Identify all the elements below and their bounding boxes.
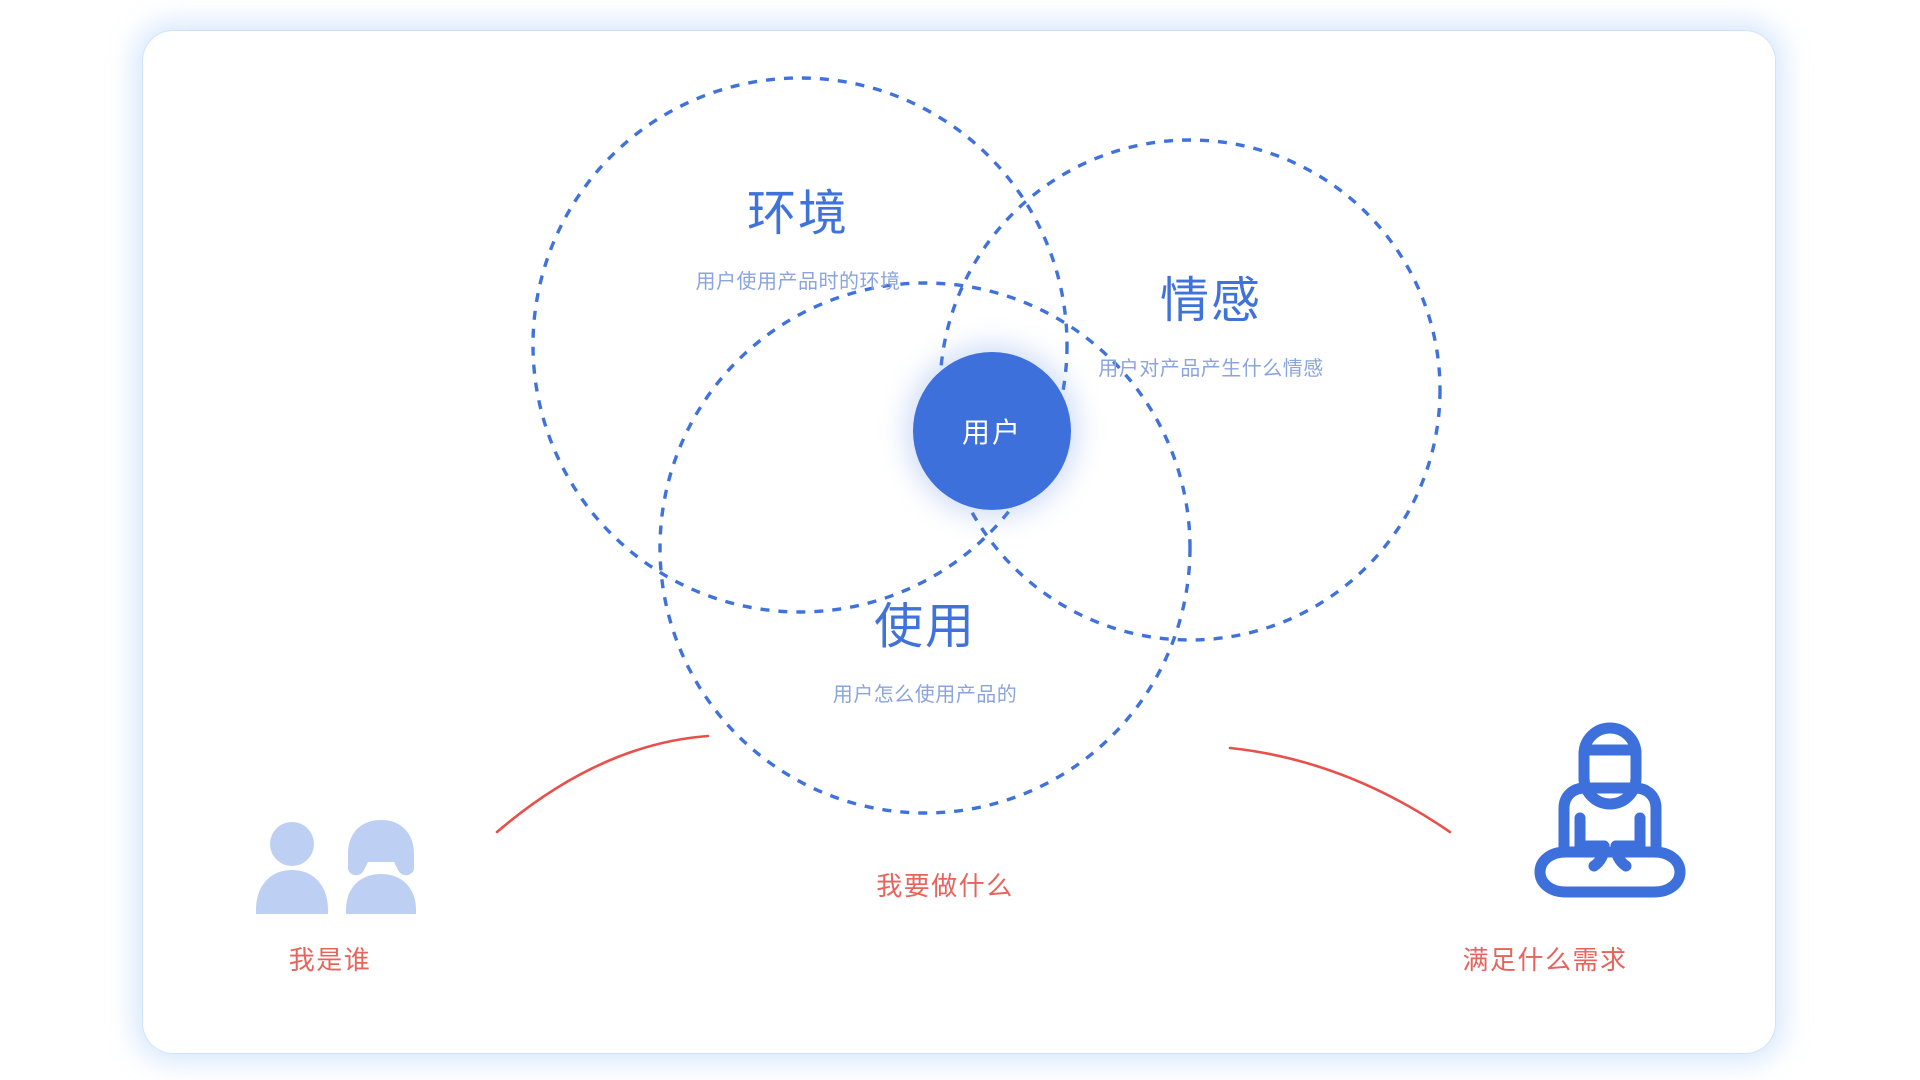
venn-label-environment: 环境 用户使用产品时的环境 [688,190,908,292]
venn-title-emotion: 情感 [1096,277,1326,326]
venn-label-emotion: 情感 用户对产品产生什么情感 [1096,277,1326,379]
annotation-what-to-do: 我要做什么 [810,866,1080,903]
annotation-who-am-i: 我是谁 [190,940,470,977]
annotation-what-to-do-label: 我要做什么 [876,871,1014,901]
venn-subtitle-emotion: 用户对产品产生什么情感 [1096,359,1326,379]
center-user-label: 用户 [962,411,1022,451]
venn-subtitle-usage: 用户怎么使用产品的 [820,685,1030,705]
venn-subtitle-environment: 用户使用产品时的环境 [688,272,908,292]
venn-title-environment: 环境 [688,190,908,239]
annotation-what-need: 满足什么需求 [1395,940,1695,977]
venn-title-usage: 使用 [820,603,1030,652]
annotation-who-am-i-label: 我是谁 [289,945,372,975]
venn-label-usage: 使用 用户怎么使用产品的 [820,603,1030,705]
diagram-canvas: 环境 用户使用产品时的环境 情感 用户对产品产生什么情感 使用 用户怎么使用产品… [0,0,1920,1080]
center-user-bubble: 用户 [913,352,1071,510]
meditating-person-icon [1530,722,1690,910]
annotation-what-need-label: 满足什么需求 [1462,945,1627,975]
two-people-silhouette-icon [250,818,436,916]
